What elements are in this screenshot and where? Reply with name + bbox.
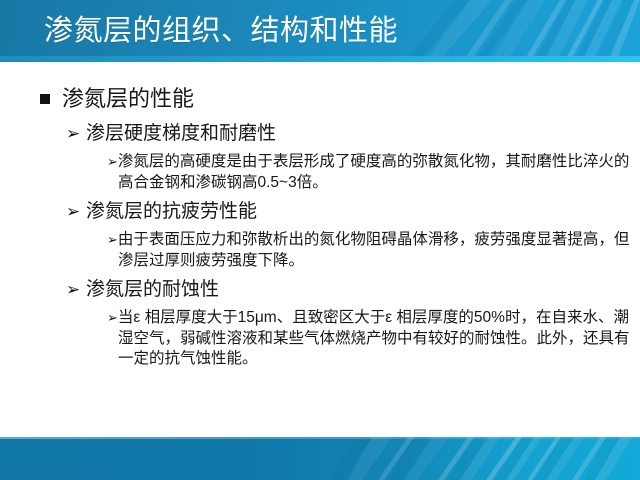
arrow-bullet-icon: ➢ [66, 201, 80, 223]
section1-paragraph: 渗氮层的高硬度是由于表层形成了硬度高的弥散氮化物，其耐磨性比淬火的高合金钢和渗碳… [118, 153, 630, 191]
arrow-bullet-small-icon: ➢ [107, 232, 118, 247]
bullet-level2-item-3: ➢ 渗氮层的耐蚀性 [0, 276, 640, 304]
bullet-level2-item-2: ➢ 渗氮层的抗疲劳性能 [0, 198, 640, 226]
bullet-level2-item-1: ➢ 渗层硬度梯度和耐磨性 [0, 120, 640, 148]
section3-heading: 渗氮层的耐蚀性 [86, 279, 219, 300]
slide-header-band: 渗氮层的组织、结构和性能 [0, 0, 640, 62]
bullet-level3-item-1: ➢渗氮层的高硬度是由于表层形成了硬度高的弥散氮化物，其耐磨性比淬火的高合金钢和渗… [0, 152, 640, 193]
bullet-level1-item: 渗氮层的性能 [0, 84, 640, 114]
section1-heading: 渗层硬度梯度和耐磨性 [86, 123, 276, 144]
section2-paragraph: 由于表面压应力和弥散析出的氮化物阻碍晶体滑移，疲劳强度显著提高，但渗层过厚则疲劳… [118, 231, 630, 269]
arrow-bullet-icon: ➢ [66, 279, 80, 301]
footer-top-edge [0, 437, 640, 439]
arrow-bullet-small-icon: ➢ [107, 310, 118, 325]
arrow-bullet-small-icon: ➢ [107, 154, 118, 169]
bullet-level3-item-3: ➢当ε 相层厚度大于15μm、且致密区大于ε 相层厚度的50%时，在自来水、潮湿… [0, 308, 640, 370]
presentation-slide: 渗氮层的组织、结构和性能 渗氮层的性能 ➢ 渗层硬度梯度和耐磨性 ➢渗氮层的高硬… [0, 0, 640, 480]
section3-paragraph: 当ε 相层厚度大于15μm、且致密区大于ε 相层厚度的50%时，在自来水、潮湿空… [118, 309, 630, 367]
square-bullet-icon [40, 94, 50, 104]
bullet-level3-item-2: ➢由于表面压应力和弥散析出的氮化物阻碍晶体滑移，疲劳强度显著提高，但渗层过厚则疲… [0, 230, 640, 271]
slide-content: 渗氮层的性能 ➢ 渗层硬度梯度和耐磨性 ➢渗氮层的高硬度是由于表层形成了硬度高的… [0, 62, 640, 437]
slide-footer-band [0, 437, 640, 480]
arrow-bullet-icon: ➢ [66, 123, 80, 145]
slide-title: 渗氮层的组织、结构和性能 [44, 13, 398, 49]
footer-light-rays [0, 437, 640, 480]
section2-heading: 渗氮层的抗疲劳性能 [86, 201, 257, 222]
level1-text: 渗氮层的性能 [62, 86, 194, 111]
